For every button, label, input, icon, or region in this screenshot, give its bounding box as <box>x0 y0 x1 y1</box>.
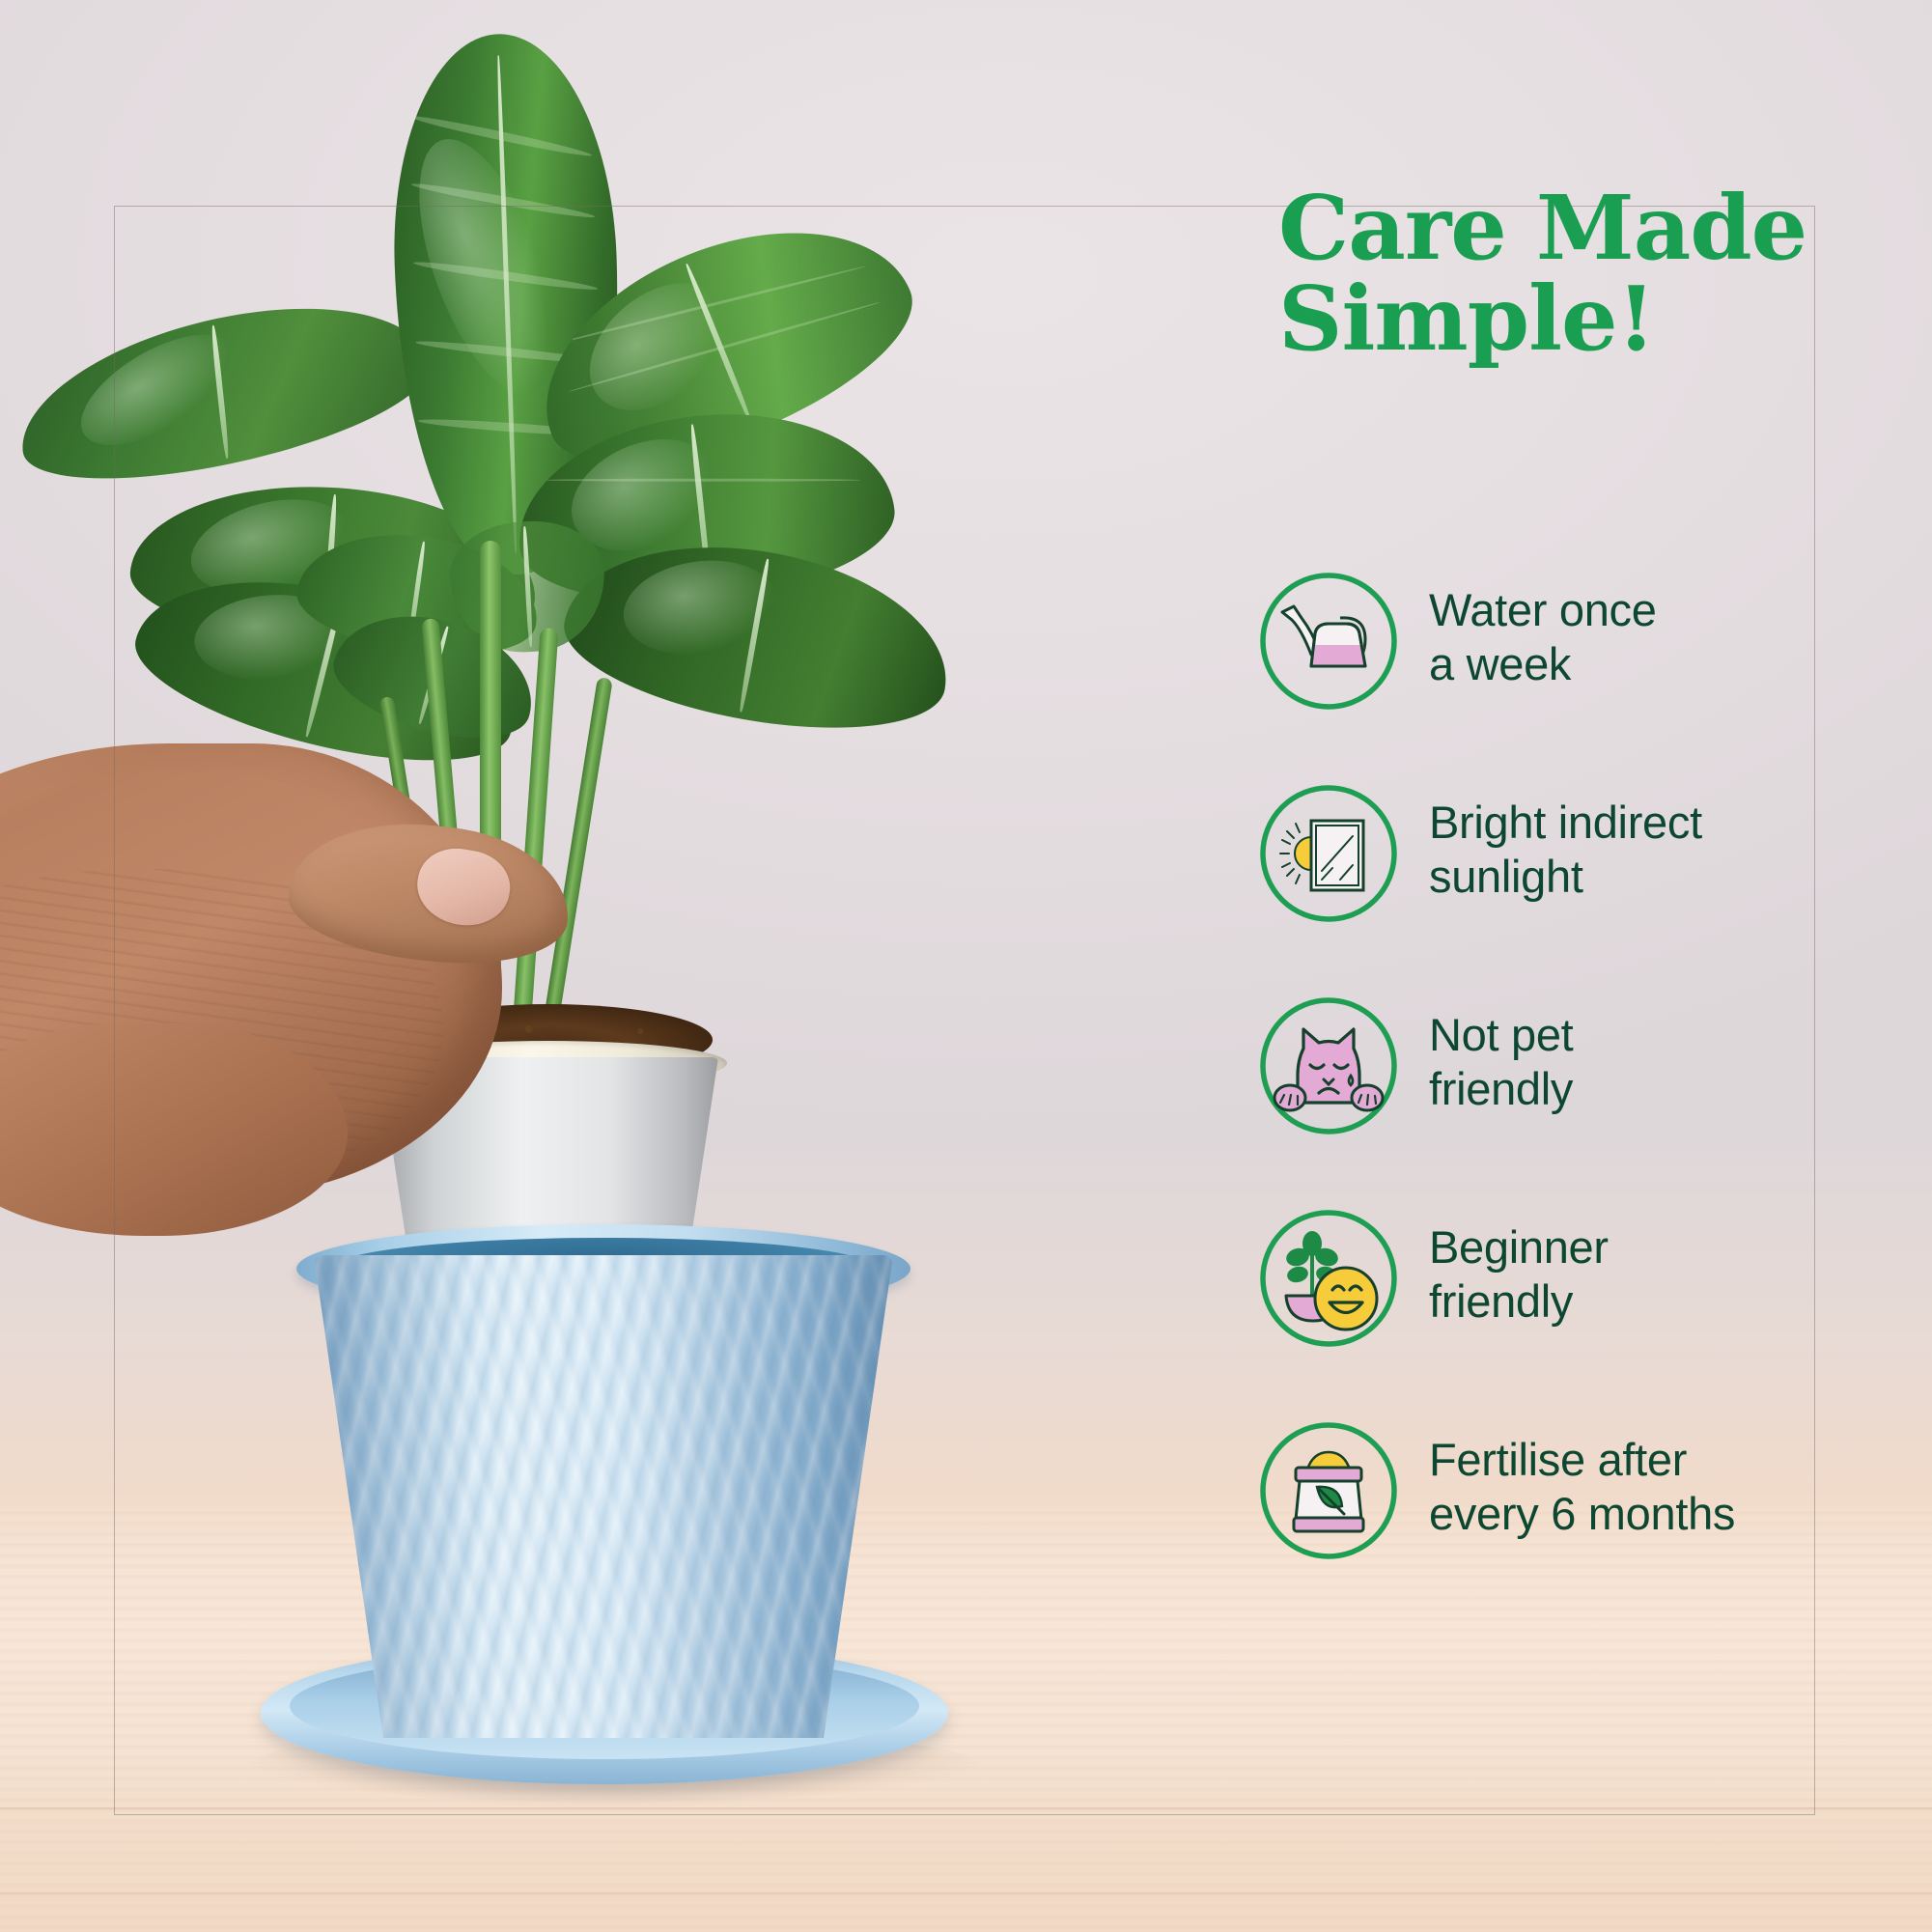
care-label-line-1: Bright indirect <box>1429 796 1912 850</box>
headline-line-1: Care Made <box>1278 183 1896 274</box>
page-title: Care Made Simple! <box>1278 183 1896 365</box>
window-sun-icon <box>1257 782 1400 925</box>
care-label-line-2: sunlight <box>1429 850 1912 904</box>
sad-cat-icon <box>1257 994 1400 1137</box>
care-item-label: Fertilise after every 6 months <box>1429 1433 1912 1541</box>
hand-lower-knuckle <box>0 1023 348 1236</box>
care-item-label: Not pet friendly <box>1429 1008 1912 1116</box>
care-label-line-2: a week <box>1429 637 1912 691</box>
care-label-line-1: Water once <box>1429 583 1912 637</box>
care-list: Water once a week <box>1257 570 1923 1632</box>
headline-line-2: Simple! <box>1278 274 1896 365</box>
care-label-line-1: Fertilise after <box>1429 1433 1912 1487</box>
leaf <box>553 519 963 753</box>
care-label-line-2: friendly <box>1429 1062 1912 1116</box>
potted-plant-smiley-icon <box>1257 1207 1400 1350</box>
care-label-line-2: every 6 months <box>1429 1487 1912 1541</box>
care-item-sunlight: Bright indirect sunlight <box>1257 782 1923 994</box>
care-item-label: Bright indirect sunlight <box>1429 796 1912 904</box>
care-item-label: Water once a week <box>1429 583 1912 691</box>
care-panel: Care Made Simple! Water once <box>1246 183 1921 1690</box>
planter-shading <box>314 1255 893 1738</box>
care-label-line-1: Beginner <box>1429 1220 1912 1274</box>
care-item-fertilise: Fertilise after every 6 months <box>1257 1419 1923 1632</box>
plant-photo <box>0 0 975 1932</box>
care-item-label: Beginner friendly <box>1429 1220 1912 1329</box>
watering-can-icon <box>1257 570 1400 713</box>
care-label-line-1: Not pet <box>1429 1008 1912 1062</box>
care-item-water: Water once a week <box>1257 570 1923 782</box>
care-label-line-2: friendly <box>1429 1274 1912 1329</box>
care-item-beginner: Beginner friendly <box>1257 1207 1923 1419</box>
ceramic-planter <box>314 1255 893 1738</box>
plant-stem <box>542 677 613 1032</box>
leaf <box>14 275 434 506</box>
fertiliser-bag-icon <box>1257 1419 1400 1562</box>
product-care-graphic: Care Made Simple! Water once <box>0 0 1932 1932</box>
care-item-pet: Not pet friendly <box>1257 994 1923 1207</box>
